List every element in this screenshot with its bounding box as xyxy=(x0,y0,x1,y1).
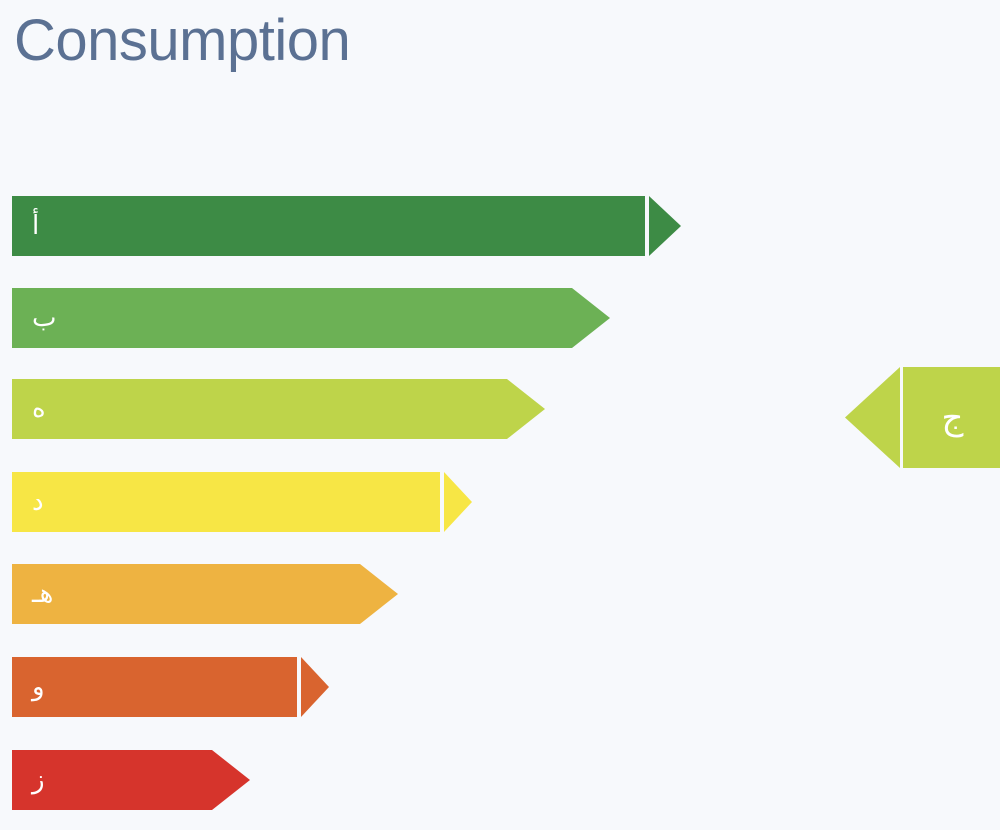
rating-bar-arrowhead-icon xyxy=(444,472,472,532)
rating-bar[interactable]: د xyxy=(12,472,472,532)
rating-bar-body xyxy=(12,472,440,532)
rating-bar-row: ز xyxy=(0,750,1000,810)
current-rating-marker: ج xyxy=(845,367,1000,468)
rating-bar-row: أ xyxy=(0,196,1000,256)
marker-point-icon xyxy=(845,367,900,468)
marker-body xyxy=(903,367,1000,468)
rating-bar-row: د xyxy=(0,472,1000,532)
rating-bar-body xyxy=(12,196,645,256)
rating-bar[interactable]: ه xyxy=(12,379,545,439)
rating-bar-body xyxy=(12,657,297,717)
rating-bar-shape xyxy=(12,750,250,810)
rating-bar-shape xyxy=(12,288,610,348)
rating-bar-row: هـ xyxy=(0,564,1000,624)
rating-bar-shape xyxy=(12,379,545,439)
rating-bar[interactable]: ب xyxy=(12,288,610,348)
rating-bar[interactable]: و xyxy=(12,657,329,717)
rating-bar[interactable]: هـ xyxy=(12,564,398,624)
rating-bar-arrowhead-icon xyxy=(649,196,681,256)
page-title: Consumption xyxy=(14,12,350,70)
rating-bar[interactable]: أ xyxy=(12,196,681,256)
rating-bar-row: و xyxy=(0,657,1000,717)
consumption-rating-chart: Consumption أبهدهـوز ج xyxy=(0,0,1000,830)
rating-bar[interactable]: ز xyxy=(12,750,250,810)
rating-bar-row: ب xyxy=(0,288,1000,348)
rating-bar-shape xyxy=(12,564,398,624)
rating-bar-arrowhead-icon xyxy=(301,657,329,717)
